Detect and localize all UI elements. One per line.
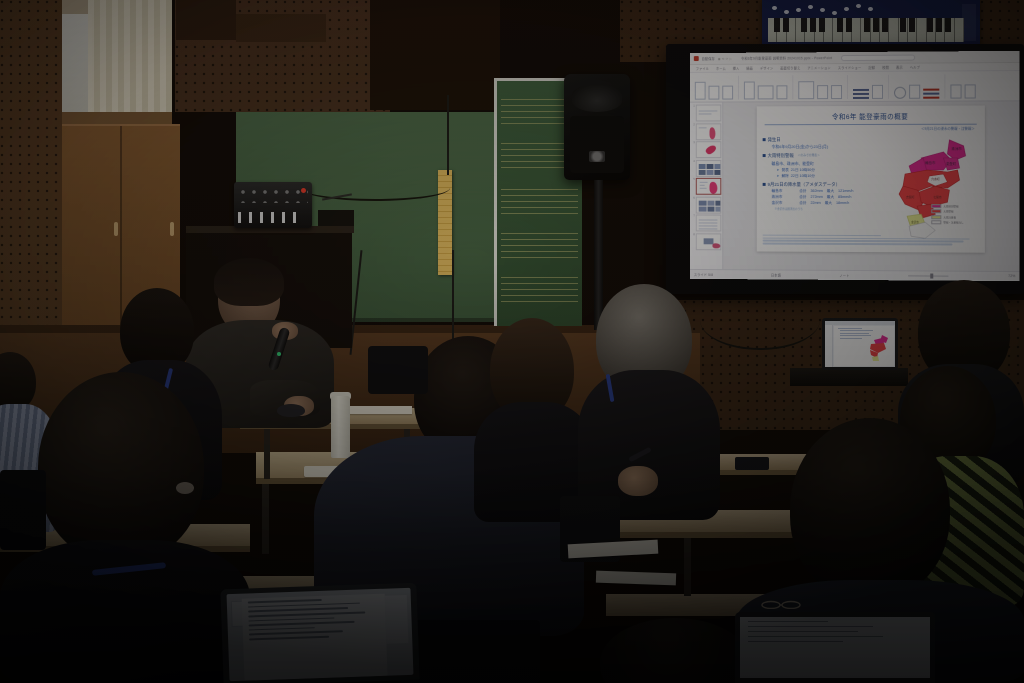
- thumbnail-item[interactable]: 6: [691, 196, 721, 213]
- max-value: 121mm/h: [838, 189, 853, 194]
- heading-text: 大雨特別警報: [768, 153, 794, 159]
- chair-back: [0, 470, 46, 550]
- rainfall-footnote: ※金沢市は観測点のうち: [775, 207, 889, 211]
- paste-button[interactable]: [695, 81, 706, 99]
- tab-insert[interactable]: 挿入: [733, 66, 740, 71]
- align-icons[interactable]: [853, 88, 869, 98]
- language-indicator[interactable]: 日本語: [771, 272, 781, 277]
- eyeglasses-on-desk[interactable]: [760, 600, 808, 609]
- music-notes-graphic: [770, 2, 890, 18]
- wall-recess-panel: [370, 0, 500, 110]
- legend-row: 警報・注意報なし: [931, 221, 963, 225]
- presenter-hair: [214, 258, 284, 306]
- thumbnail-item[interactable]: 2: [691, 123, 721, 140]
- mixer-fader-row[interactable]: [238, 212, 296, 223]
- thumbnail-number: 4: [691, 160, 695, 177]
- heading-text: 9月21日の降水量（アメダスデータ）: [768, 182, 840, 188]
- thumbnail-number: 1: [691, 105, 695, 122]
- arrow-icon: ➤: [776, 174, 779, 179]
- tab-transitions[interactable]: 画面切り替え: [780, 65, 800, 70]
- search-input[interactable]: [841, 54, 915, 61]
- svg-text:七尾市: 七尾市: [933, 195, 942, 199]
- laptop-slide-area[interactable]: [834, 326, 894, 366]
- speaker-grille: [570, 116, 624, 173]
- cut-button[interactable]: [709, 85, 720, 99]
- svg-text:志賀町: 志賀町: [906, 195, 915, 199]
- subline-value: 21日 10時50分: [791, 168, 815, 173]
- legend-swatch: [931, 221, 941, 225]
- presenter-laptop-screen[interactable]: [825, 321, 895, 367]
- desk-edge: [606, 532, 806, 538]
- max-label: 最大: [825, 201, 832, 206]
- tab-animations[interactable]: アニメーション: [807, 65, 830, 70]
- laptop-right-pane[interactable]: [385, 595, 409, 644]
- ribbon-group-font[interactable]: [798, 75, 848, 99]
- ribbon-group-editing[interactable]: [950, 74, 980, 98]
- arrow-icon: ➤: [776, 168, 779, 173]
- subline-label: 解除: [782, 174, 789, 179]
- ribbon-group-clipboard[interactable]: [695, 75, 739, 99]
- thumbnail-preview[interactable]: [696, 123, 721, 140]
- tab-home[interactable]: ホーム: [716, 66, 726, 71]
- font-size-select[interactable]: [817, 85, 828, 99]
- speaker-stand-pole: [594, 180, 603, 330]
- laptop-document-area[interactable]: [241, 594, 387, 681]
- total-value: 22mm: [811, 201, 821, 206]
- zoom-level[interactable]: 72%: [1008, 274, 1015, 278]
- zoom-slider-handle[interactable]: [931, 273, 934, 278]
- hanging-cable: [452, 250, 454, 350]
- bullet-square-icon: [763, 138, 766, 141]
- city-label: 金沢市: [772, 201, 796, 206]
- shape-ellipse-icon[interactable]: [894, 86, 906, 98]
- display-cable-run: [700, 290, 820, 350]
- legend-label: 大雨特別警報: [943, 204, 958, 208]
- thumbnail-item[interactable]: 7: [691, 215, 721, 232]
- svg-text:金沢市: 金沢市: [911, 220, 919, 224]
- bullet-list-button[interactable]: [872, 84, 883, 98]
- laptop-screen[interactable]: [740, 617, 930, 678]
- legend-label: 警報・注意報なし: [943, 221, 963, 225]
- legend-row: 大雨警報: [931, 210, 963, 214]
- audience-head: [38, 372, 204, 562]
- window-curtain: [88, 0, 172, 118]
- layout-button[interactable]: [758, 85, 774, 99]
- legend-swatch: [931, 210, 941, 214]
- thumbnail-number: 3: [691, 141, 695, 158]
- document-filename: 令和6年9月能登豪雨 説明資料 20241015.pptx - PowerPoi…: [741, 55, 832, 61]
- thumbnail-item[interactable]: 1: [691, 105, 721, 122]
- svg-text:能登町: 能登町: [946, 161, 957, 166]
- wall-trim-panel: [236, 14, 326, 42]
- shape-styles-icons[interactable]: [923, 88, 939, 98]
- ribbon-toolbar[interactable]: [690, 71, 1020, 103]
- legend-label: 大雨警報: [943, 210, 953, 214]
- rainfall-row: 輪島市 合計 362mm 最大 121mm/h: [772, 189, 888, 194]
- piano-keyboard-chart: [762, 0, 980, 44]
- wall-cable-run: [300, 175, 450, 201]
- shape-rect-icon[interactable]: [909, 84, 920, 98]
- thumbnail-preview[interactable]: [696, 160, 721, 177]
- eyeglasses-temple: [176, 482, 194, 494]
- tab-design[interactable]: デザイン: [760, 66, 773, 71]
- max-label: 最大: [827, 189, 834, 194]
- cabinet-handle[interactable]: [114, 222, 118, 236]
- audience-hand: [618, 466, 658, 496]
- notes-button[interactable]: ノート: [839, 272, 849, 277]
- display-screen[interactable]: 自動保存 ◼ ⟲ ⟳ ▷ 令和6年9月能登豪雨 説明資料 20241015.pp…: [690, 51, 1020, 281]
- subline-value: 22日 10時10分: [791, 174, 815, 179]
- thumbnail-preview[interactable]: [696, 196, 721, 213]
- slide-stage[interactable]: 令和6年 能登豪雨の概要 ＜9月21日の浸水の警報・注警報＞ 発生日 令和6年9…: [723, 101, 1019, 271]
- thumbnail-preview[interactable]: [696, 105, 721, 122]
- tab-slideshow[interactable]: スライドショー: [838, 65, 862, 70]
- thermos-tumbler[interactable]: [331, 396, 350, 458]
- smartphone-on-desk[interactable]: [735, 457, 769, 470]
- rainfall-row: 金沢市 合計 22mm 最大 18mm/h: [772, 201, 888, 206]
- presenter-laptop[interactable]: [822, 318, 898, 370]
- thumbnail-item-selected[interactable]: 5: [691, 178, 721, 195]
- hanging-cable: [447, 95, 449, 175]
- max-value: 18mm/h: [836, 201, 849, 206]
- laptop-map-graphic: [868, 334, 890, 362]
- cabinet-handle[interactable]: [170, 222, 174, 236]
- tab-draw[interactable]: 描画: [746, 66, 753, 71]
- desk-leg: [684, 538, 691, 596]
- slide-subline: ➤ 解除 22日 10時10分: [776, 174, 888, 179]
- audience-head: [600, 618, 750, 683]
- laptop-lid: [735, 612, 935, 683]
- audience-head: [790, 418, 950, 600]
- slide-text-column: 発生日 令和6年9月20日(金)から23日(月) 大雨特別警報 ＜のみでの発表＞…: [763, 134, 888, 242]
- tab-review[interactable]: 校閲: [882, 65, 889, 70]
- laptop-stand: [790, 368, 908, 386]
- legend-swatch: [931, 215, 941, 219]
- thumbnail-preview[interactable]: [696, 215, 721, 232]
- poster-side-strip: [962, 4, 976, 41]
- subline-label: 発表: [782, 168, 789, 173]
- map-legend: 大雨特別警報 大雨警報 大雨注意報: [931, 204, 963, 226]
- prefecture-map: 珠洲市 輪島市 能登町 穴水町 七尾市 志賀町 金沢市: [891, 134, 976, 243]
- svg-text:輪島市: 輪島市: [925, 160, 936, 165]
- slide-content: 発生日 令和6年9月20日(金)から23日(月) 大雨特別警報 ＜のみでの発表＞…: [757, 131, 985, 243]
- total-value: 362mm: [811, 189, 823, 194]
- heading-text: 発生日: [768, 137, 781, 143]
- rainfall-row: 珠洲市 合計 272mm 最大 85mm/h: [772, 195, 888, 200]
- total-label: 合計: [799, 189, 806, 194]
- thumbnail-item[interactable]: 4: [691, 160, 721, 177]
- thumbnail-preview[interactable]: [696, 141, 721, 158]
- acoustic-wall-panel-left: [0, 0, 62, 330]
- desk-leg: [262, 484, 269, 554]
- laptop-thumbnail-pane[interactable]: [825, 325, 833, 367]
- pa-speaker: [564, 74, 630, 180]
- bullet-square-icon: [763, 154, 766, 157]
- thumbnail-item[interactable]: 8: [691, 233, 721, 250]
- reset-button[interactable]: [776, 85, 787, 99]
- chair-back: [400, 620, 540, 683]
- new-slide-button[interactable]: [744, 81, 755, 99]
- autosave-label[interactable]: 自動保存: [702, 56, 715, 61]
- desk-leg: [264, 429, 270, 479]
- quick-access-toolbar[interactable]: ◼ ⟲ ⟳ ▷: [718, 56, 732, 60]
- select-button[interactable]: [965, 84, 976, 98]
- tab-file[interactable]: ファイル: [696, 66, 709, 71]
- attendee-laptop-front[interactable]: [220, 583, 419, 683]
- audience-torso: [0, 540, 250, 683]
- slide-section-heading: 発生日: [763, 137, 888, 143]
- copy-button[interactable]: [722, 85, 733, 99]
- laptop-screen[interactable]: [227, 588, 414, 681]
- thumbnail-number: 2: [691, 123, 695, 140]
- ribbon-group-slides[interactable]: [744, 75, 793, 99]
- total-value: 272mm: [811, 195, 823, 200]
- audio-mixer[interactable]: [234, 182, 312, 228]
- svg-text:珠洲市: 珠洲市: [951, 146, 962, 151]
- heading-note: ＜のみでの発表＞: [798, 153, 820, 159]
- slide-section-line: 輪島市、珠洲市、能登町: [772, 161, 888, 167]
- mixer-knob-row[interactable]: [238, 187, 308, 203]
- power-led-icon: [301, 188, 306, 193]
- slide-title: 令和6年 能登豪雨の概要: [757, 106, 985, 122]
- slide-section-heading: 大雨特別警報 ＜のみでの発表＞: [763, 153, 888, 159]
- wireless-receiver[interactable]: [318, 210, 354, 226]
- font-family-select[interactable]: [798, 81, 814, 99]
- find-button[interactable]: [950, 84, 961, 98]
- thumbnail-number: 6: [691, 196, 695, 213]
- speaker-brand-logo-icon: [589, 151, 605, 162]
- ribbon-group-paragraph[interactable]: [853, 74, 889, 98]
- max-value: 85mm/h: [838, 195, 851, 200]
- thumbnail-number: 7: [691, 215, 695, 232]
- app-logo-icon: [694, 56, 699, 61]
- window-sill: [62, 112, 172, 124]
- thumbnail-number: 8: [691, 233, 695, 250]
- slide-footnotes: [763, 234, 979, 246]
- thumbnail-preview[interactable]: [696, 178, 721, 195]
- current-slide[interactable]: 令和6年 能登豪雨の概要 ＜9月21日の浸水の警報・注警報＞ 発生日 令和6年9…: [757, 106, 985, 253]
- tab-record[interactable]: 記録: [868, 65, 875, 70]
- tab-help[interactable]: ヘルプ: [910, 65, 920, 70]
- laptop-lid: [220, 583, 419, 683]
- city-label: 珠洲市: [772, 195, 796, 200]
- bold-button[interactable]: [831, 85, 842, 99]
- thumbnail-item[interactable]: 3: [691, 141, 721, 158]
- legend-swatch: [931, 204, 941, 208]
- thumbnail-number: 5: [691, 178, 695, 195]
- slide-section-heading: 9月21日の降水量（アメダスデータ）: [763, 182, 888, 188]
- slide-indicator: スライド 5/8: [694, 271, 713, 276]
- max-label: 最大: [827, 195, 834, 200]
- attendee-laptop-right[interactable]: [735, 612, 935, 683]
- slide-subline: ➤ 発表 21日 10時50分: [776, 168, 888, 173]
- computer-mouse[interactable]: [277, 404, 305, 417]
- lecture-hall-scene: 自動保存 ◼ ⟲ ⟳ ▷ 令和6年9月能登豪雨 説明資料 20241015.pp…: [0, 0, 1024, 683]
- chair-back: [368, 346, 428, 394]
- slide-thumbnail-pane[interactable]: 1 2 3: [690, 103, 723, 270]
- legend-row: 大雨特別警報: [931, 204, 963, 208]
- speaker-horn: [572, 84, 622, 112]
- thumbnail-preview[interactable]: [696, 233, 721, 250]
- city-label: 輪島市: [772, 189, 796, 194]
- legend-label: 大雨注意報: [943, 215, 956, 219]
- piano-keys-graphic: [768, 18, 964, 42]
- wall-cabinet-upper-left: [176, 0, 236, 40]
- wall-display: 自動保存 ◼ ⟲ ⟳ ▷ 令和6年9月能登豪雨 説明資料 20241015.pp…: [666, 44, 1024, 294]
- paper-handout[interactable]: [596, 571, 676, 586]
- ribbon-group-drawing[interactable]: [894, 74, 945, 98]
- total-label: 合計: [799, 201, 806, 206]
- microphone-led-icon: [277, 352, 281, 356]
- tab-view[interactable]: 表示: [896, 65, 903, 70]
- slide-section-line: 令和6年9月20日(金)から23日(月): [772, 144, 888, 150]
- bullet-square-icon: [763, 183, 766, 186]
- total-label: 合計: [799, 195, 806, 200]
- editor-body: 1 2 3: [690, 101, 1020, 271]
- legend-row: 大雨注意報: [931, 215, 963, 219]
- zoom-slider[interactable]: [908, 275, 948, 276]
- svg-text:穴水町: 穴水町: [931, 177, 940, 181]
